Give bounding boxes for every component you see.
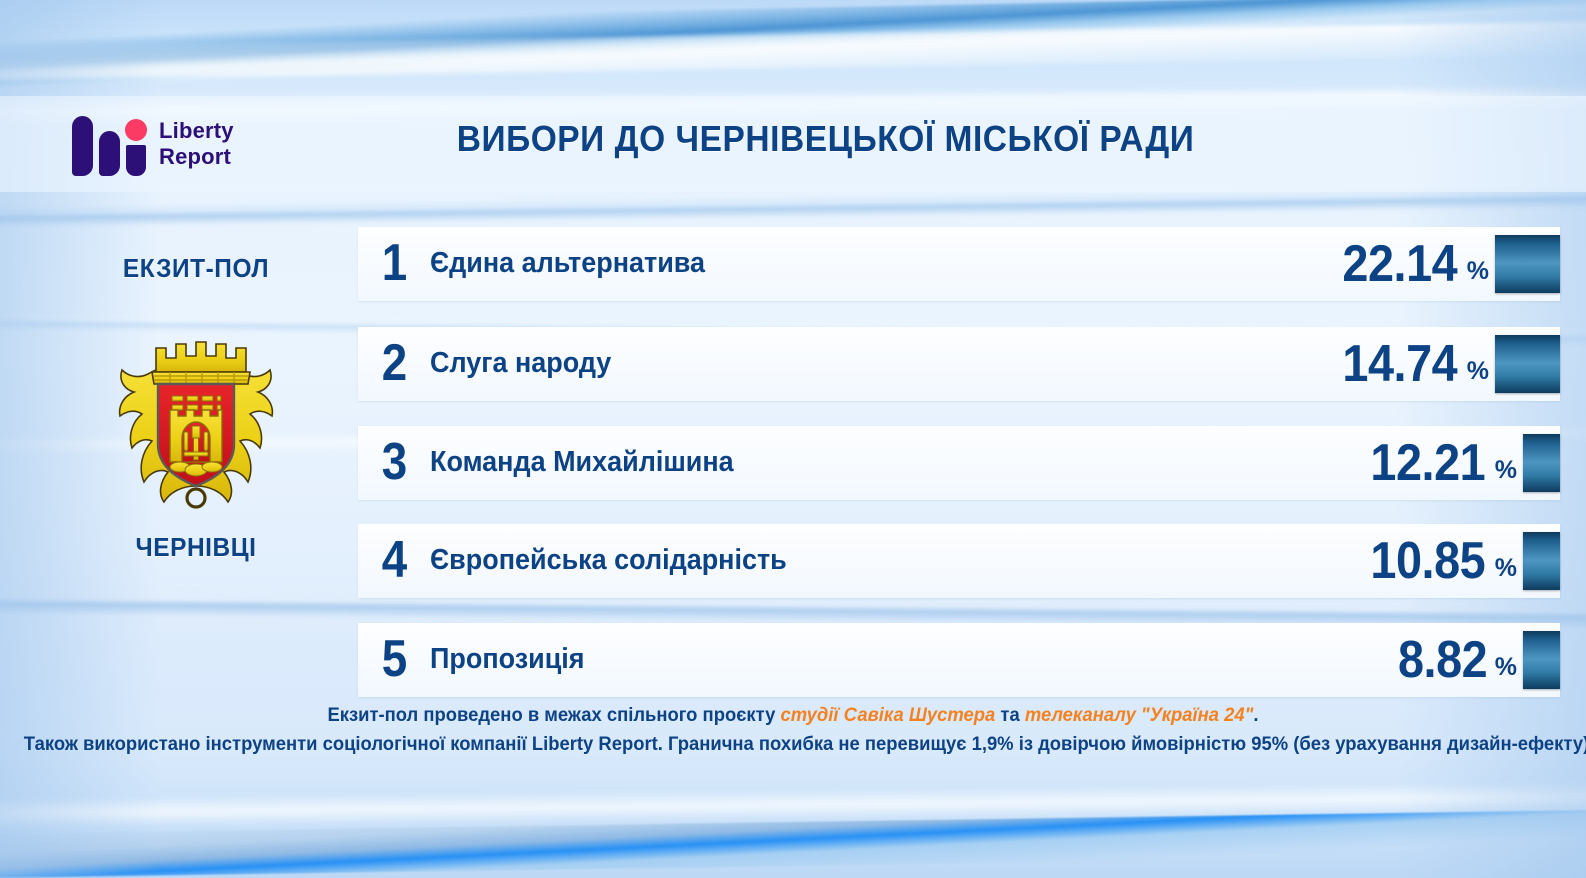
poll-type-label: ЕКЗИТ-ПОЛ <box>68 253 324 284</box>
result-row-4[interactable]: 4 Європейська солідарність 10.85 % <box>358 524 1560 598</box>
result-value-group: 12.21 % <box>1364 426 1560 500</box>
result-bar <box>1523 434 1560 492</box>
result-rank: 3 <box>382 436 407 488</box>
result-bar <box>1523 631 1560 689</box>
city-label: ЧЕРНІВЦІ <box>68 532 324 563</box>
result-rank: 5 <box>382 633 407 685</box>
result-value-group: 8.82 % <box>1393 623 1560 697</box>
result-row-2[interactable]: 2 Слуга народу 14.74 % <box>358 327 1560 401</box>
result-party-name: Слуга народу <box>430 347 611 380</box>
footnote-line-1: Екзит-пол проведено в межах спільного пр… <box>24 702 1562 731</box>
result-row-1[interactable]: 1 Єдина альтернатива 22.14 % <box>358 227 1560 301</box>
result-percent-value: 10.85 <box>1371 535 1486 587</box>
result-value-group: 14.74 % <box>1336 327 1560 401</box>
result-rank: 1 <box>382 237 407 289</box>
result-bar <box>1495 335 1560 393</box>
footnote-highlight-2: телеканалу "Україна 24" <box>1025 705 1254 726</box>
page-title: ВИБОРИ ДО ЧЕРНІВЕЦЬКОЇ МІСЬКОЇ РАДИ <box>56 118 1531 160</box>
header-band: Liberty Report ВИБОРИ ДО ЧЕРНІВЕЦЬКОЇ МІ… <box>0 96 1586 192</box>
result-rank: 4 <box>382 534 407 586</box>
footnote-highlight-1: студії Савіка Шустера <box>780 705 995 726</box>
page-title-text: ВИБОРИ ДО ЧЕРНІВЕЦЬКОЇ МІСЬКОЇ РАДИ <box>392 118 1195 160</box>
result-row-5[interactable]: 5 Пропозиція 8.82 % <box>358 623 1560 697</box>
result-value-group: 22.14 % <box>1336 227 1560 301</box>
result-percent-value: 22.14 <box>1343 238 1458 290</box>
footnote-text-1: Екзит-пол проведено в межах спільного пр… <box>327 705 780 726</box>
result-rank: 2 <box>382 337 407 389</box>
result-party-name: Єдина альтернатива <box>430 247 705 280</box>
percent-symbol: % <box>1495 456 1517 485</box>
result-percent-value: 12.21 <box>1371 437 1486 489</box>
footnote: Екзит-пол проведено в межах спільного пр… <box>24 702 1562 760</box>
result-party-name: Команда Михайлішина <box>430 446 734 479</box>
percent-symbol: % <box>1467 357 1489 386</box>
result-percent-value: 14.74 <box>1343 338 1458 390</box>
result-percent-value: 8.82 <box>1398 634 1487 686</box>
footnote-text-2: та <box>995 705 1025 726</box>
chernivtsi-coat-of-arms-icon <box>108 326 284 512</box>
result-party-name: Пропозиція <box>430 643 585 676</box>
result-bar <box>1495 235 1560 293</box>
result-party-name: Європейська солідарність <box>430 544 787 577</box>
result-row-3[interactable]: 3 Команда Михайлішина 12.21 % <box>358 426 1560 500</box>
result-bar <box>1523 532 1560 590</box>
footnote-line-2: Також використано інструменти соціологіч… <box>24 731 1562 760</box>
percent-symbol: % <box>1495 653 1517 682</box>
footnote-text-3: . <box>1253 705 1258 726</box>
infographic-root: Liberty Report ВИБОРИ ДО ЧЕРНІВЕЦЬКОЇ МІ… <box>0 0 1586 878</box>
result-value-group: 10.85 % <box>1364 524 1560 598</box>
percent-symbol: % <box>1467 257 1489 286</box>
percent-symbol: % <box>1495 554 1517 583</box>
